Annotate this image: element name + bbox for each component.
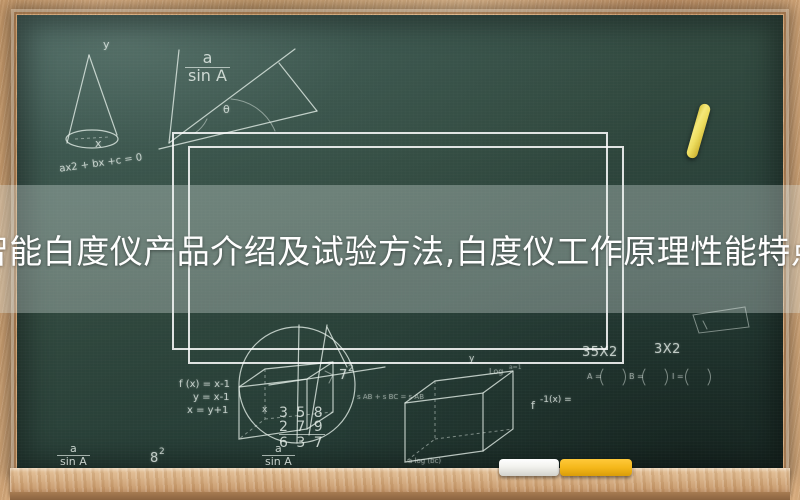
chalk-inverse-function-exponent: -1(x) = (540, 395, 572, 405)
chalk-angle-theta: θ (223, 103, 230, 116)
chalk-fx-line-2: y = x-1 (193, 392, 230, 403)
chalk-axis-x-label: x (95, 137, 102, 150)
chalk-ledge-lip (10, 492, 790, 500)
chalk-matrix-b: B = (629, 372, 644, 381)
chalk-matrix-a: A = (587, 372, 602, 381)
chalk-alog-bc: a log (bc) (408, 457, 441, 465)
chalk-law-of-sines-2: a sin A (57, 443, 90, 467)
chalk-axis-y-label: y (103, 38, 110, 51)
cone-shape (66, 55, 118, 148)
chalk-seven-squared: 7 (339, 368, 347, 383)
fraction-numerator: a (57, 443, 90, 456)
chalk-log-label: Log (489, 367, 503, 376)
fraction-denominator: sin A (185, 68, 230, 85)
page-title: 智能白度仪产品介绍及试验方法,白度仪工作原理性能特点 (0, 185, 800, 313)
subtraction-subtrahend: 2 7 9 (279, 420, 325, 434)
chalkboard-banner: a sin A ax2 + bx +c = 0 y x θ f (x) = x-… (0, 0, 800, 500)
chalk-eight-squared: 8 (150, 451, 158, 466)
chalk-eight-squared-exponent: 2 (159, 447, 165, 457)
chalk-seven-squared-exponent: 2 (348, 364, 354, 374)
chalk-law-of-sines: a sin A (185, 50, 230, 85)
chalk-log-exponent: a=1 (509, 364, 522, 371)
fraction-denominator: sin A (262, 456, 295, 468)
chalk-matrix-c: I = (672, 372, 684, 381)
chalk-ledge (10, 468, 790, 494)
yellow-chalk-piece (560, 459, 632, 476)
fraction-denominator: sin A (57, 456, 90, 468)
chalk-mult-3x2: 3X2 (654, 342, 681, 357)
chalk-small-equation: s AB + s BC = s AB (357, 393, 424, 401)
chalk-inverse-function: f (531, 399, 535, 412)
subtraction-minuend: 3 5 8 (279, 406, 325, 420)
cube-shape-right (405, 371, 513, 462)
chalk-fx-line-3: x = y+1 (187, 405, 228, 416)
chalk-axis-x-label-2: x (262, 405, 267, 415)
chalk-long-subtraction: 3 5 8 2 7 9 6 3 7 (279, 406, 325, 450)
chalk-fx-line-1: f (x) = x-1 (179, 379, 230, 390)
white-chalk-piece (499, 459, 559, 476)
subtraction-result: 6 3 7 (279, 434, 325, 450)
